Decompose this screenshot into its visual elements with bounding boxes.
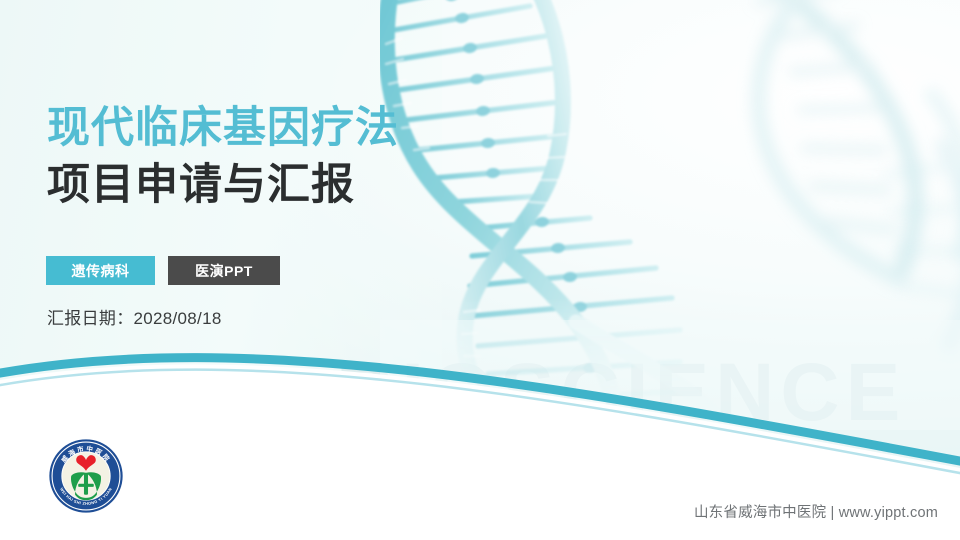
- tag-row: 遗传病科 医演PPT: [46, 256, 280, 285]
- page-title: 现代临床基因疗法 项目申请与汇报: [47, 104, 467, 210]
- title-line-1: 现代临床基因疗法: [47, 104, 467, 153]
- tag-template[interactable]: 医演PPT: [168, 256, 280, 285]
- presentation-title-slide: BIOSCIENCE: [0, 0, 960, 540]
- title-line-2: 项目申请与汇报: [47, 161, 467, 210]
- tag-department[interactable]: 遗传病科: [46, 256, 155, 285]
- footer-credit: 山东省威海市中医院 | www.yippt.com: [694, 501, 938, 522]
- hospital-logo: 威海市中医院 WEI HAI SHI ZHONG YI YUAN: [47, 437, 125, 515]
- report-date: 汇报日期：2028/08/18: [47, 304, 222, 329]
